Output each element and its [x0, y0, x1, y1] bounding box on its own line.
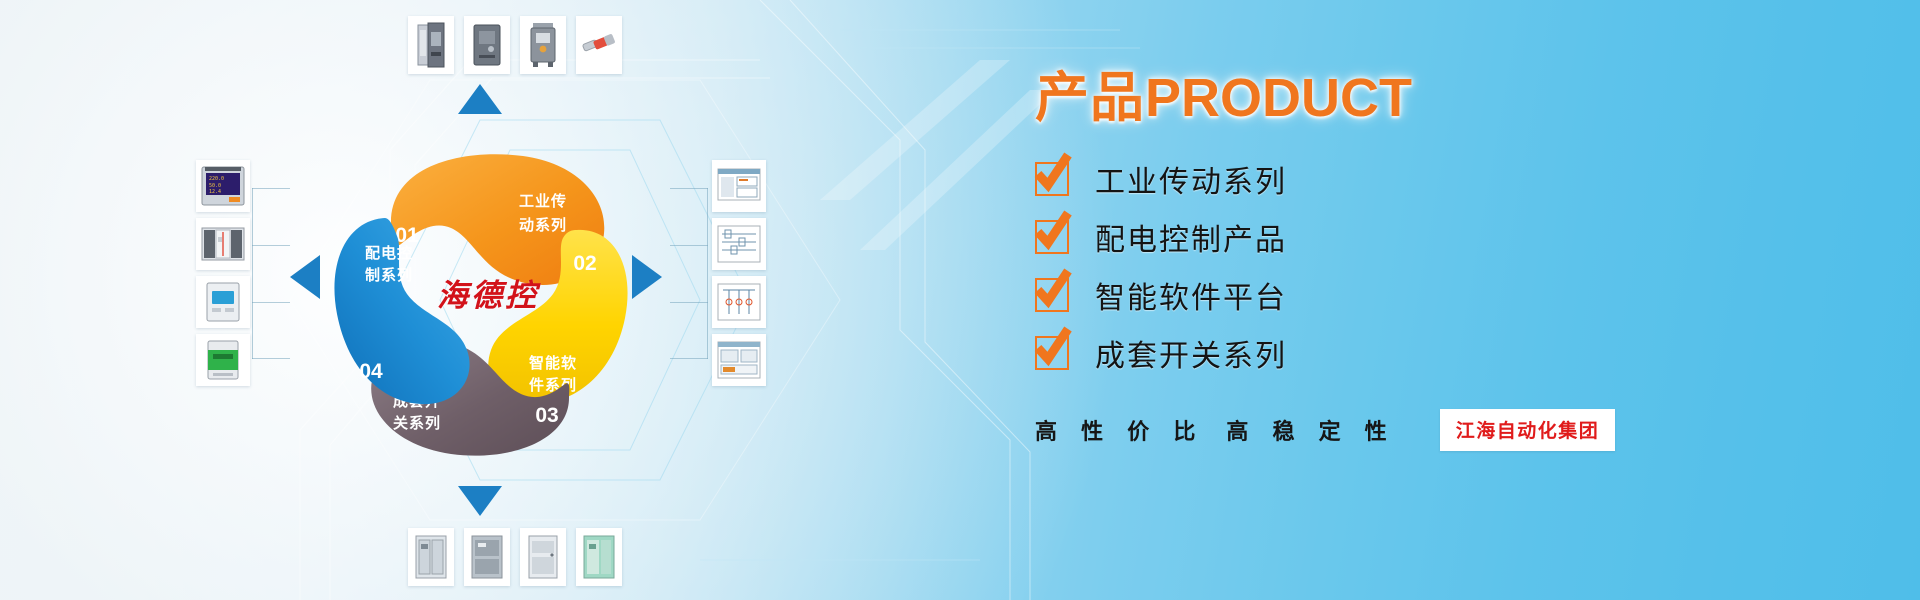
tagline-part-1: 高 性 价 比 — [1035, 419, 1204, 444]
product-content-block: 产品PRODUCT 工业传动系列 配电控制产品 — [1035, 70, 1675, 451]
list-item-label: 工业传动系列 — [1095, 157, 1287, 201]
connector-left-spine — [252, 188, 253, 359]
list-item-label: 智能软件平台 — [1095, 273, 1287, 317]
list-item[interactable]: 智能软件平台 — [1035, 269, 1675, 321]
petal-label-02-line1: 智能软 — [529, 354, 577, 372]
connector-right-3 — [670, 302, 708, 303]
vfd-cabinet-thumbnail — [520, 16, 566, 74]
center-brand-logo: 海德控 — [413, 270, 563, 315]
petal-label-02-line2: 件系列 — [529, 376, 577, 394]
list-item[interactable]: 配电控制产品 — [1035, 211, 1675, 263]
display-controller-thumbnail — [196, 276, 250, 328]
distribution-box-thumbnail — [520, 528, 566, 586]
list-item[interactable]: 工业传动系列 — [1035, 153, 1675, 205]
svg-text:12.4: 12.4 — [209, 189, 221, 195]
tagline-part-2: 高 稳 定 性 — [1226, 419, 1395, 444]
ring-main-unit-thumbnail — [576, 528, 622, 586]
connector-right-2 — [670, 245, 708, 246]
monitoring-panel-thumbnail — [712, 218, 766, 270]
connector-right-4 — [670, 358, 708, 359]
petal-label-01-line2: 动系列 — [519, 216, 567, 234]
power-meter-thumbnail: 220.0 50.0 12.4 — [196, 160, 250, 212]
page-title: 产品PRODUCT — [1035, 70, 1675, 127]
servo-drive-thumbnail — [408, 16, 454, 74]
product-category-list: 工业传动系列 配电控制产品 智能软件平台 — [1035, 153, 1675, 379]
petal-number-03: 03 — [535, 404, 558, 427]
product-wheel-diagram: 220.0 50.0 12.4 — [180, 0, 780, 600]
petal-label-04-line2: 制系列 — [365, 266, 413, 284]
list-item-label: 成套开关系列 — [1095, 331, 1287, 375]
petal-label-03-line2: 关系列 — [393, 414, 441, 432]
petal-label-01-line1: 工业传 — [519, 192, 567, 210]
check-icon — [1035, 278, 1069, 312]
control-module-thumbnail — [196, 218, 250, 270]
petal-number-04: 04 — [359, 360, 383, 383]
check-icon — [1035, 162, 1069, 196]
hmi-dashboard-thumbnail — [712, 334, 766, 386]
low-voltage-cabinet-thumbnail — [464, 528, 510, 586]
connector-right-1 — [670, 188, 708, 189]
tagline-row: 高 性 价 比高 稳 定 性 江海自动化集团 — [1035, 409, 1675, 451]
sensor-probe-thumbnail — [576, 16, 622, 74]
page-title-cn: 产品 — [1035, 68, 1145, 128]
check-icon — [1035, 336, 1069, 370]
svg-text:220.0: 220.0 — [209, 176, 224, 182]
petal-number-02: 02 — [573, 252, 596, 275]
four-petal-wheel: 01 工业传 动系列 02 智能软 件系列 03 成套开 关系列 04 配电控 … — [285, 110, 675, 490]
page-title-en: PRODUCT — [1145, 68, 1412, 128]
green-relay-thumbnail — [196, 334, 250, 386]
connector-right-spine — [707, 188, 708, 359]
check-icon — [1035, 220, 1069, 254]
tagline: 高 性 价 比高 稳 定 性 — [1035, 414, 1396, 446]
petal-label-04-line1: 配电控 — [365, 244, 413, 262]
arrow-down-icon — [458, 486, 502, 516]
software-screen-thumbnail — [712, 160, 766, 212]
list-item-label: 配电控制产品 — [1095, 215, 1287, 259]
company-badge: 江海自动化集团 — [1440, 409, 1616, 451]
petal-number-01: 01 — [395, 224, 419, 247]
scada-diagram-thumbnail — [712, 276, 766, 328]
product-banner: 220.0 50.0 12.4 — [0, 0, 1920, 600]
frequency-inverter-thumbnail — [464, 16, 510, 74]
switch-cabinet-thumbnail — [408, 528, 454, 586]
list-item[interactable]: 成套开关系列 — [1035, 327, 1675, 379]
